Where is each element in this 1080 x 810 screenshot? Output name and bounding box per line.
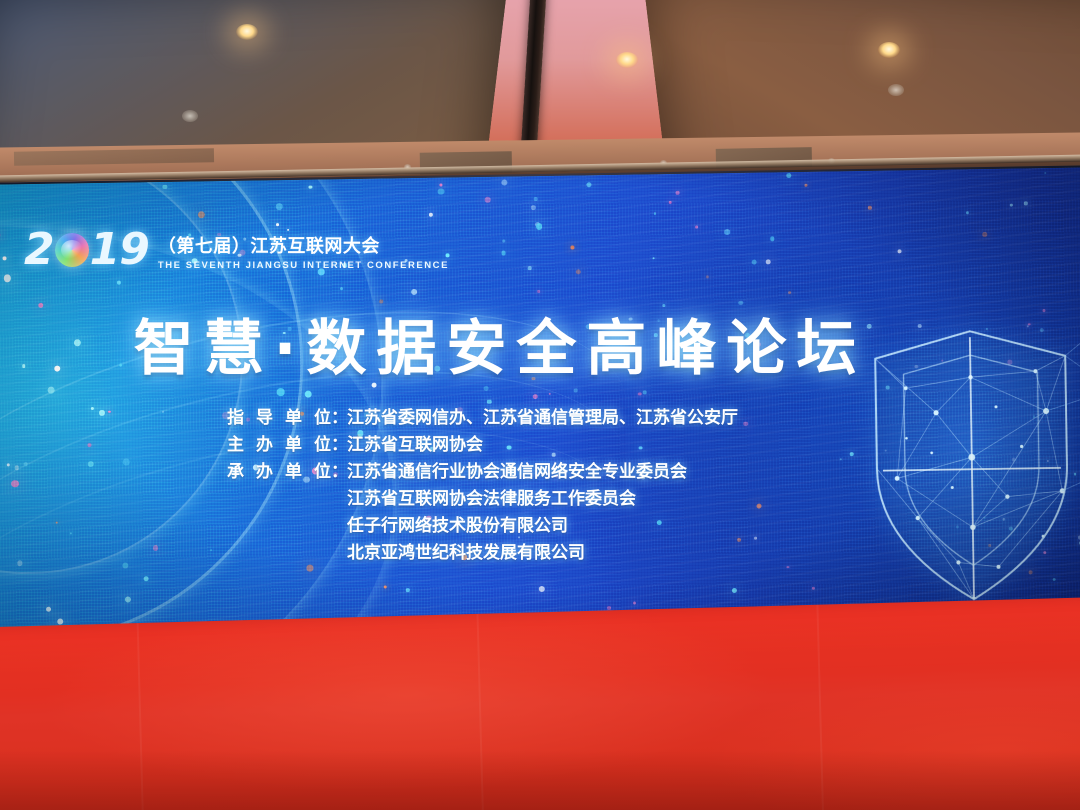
organizer-colon <box>331 512 347 539</box>
organizer-row: 任子行网络技术股份有限公司 <box>0 512 1010 539</box>
ceiling-downlight <box>616 52 638 68</box>
ceiling-downlight <box>236 24 258 40</box>
logo-year-part1: 2 <box>24 228 54 272</box>
bottom-shadow <box>0 750 1080 810</box>
organizer-colon <box>331 539 347 566</box>
forum-main-title: 智慧·数据安全高峰论坛 <box>0 300 1000 387</box>
organizer-label: 主办单位 <box>227 431 331 458</box>
organizer-colon: ： <box>331 431 347 458</box>
conference-logo: 2 19 （第七届）江苏互联网大会 THE SEVENTH JIANGSU IN… <box>24 228 449 272</box>
organizer-label <box>227 485 331 512</box>
logo-chinese-title: （第七届）江苏互联网大会 <box>158 232 449 258</box>
organizer-colon: ： <box>331 404 347 431</box>
logo-year-part2: 19 <box>90 228 149 272</box>
ceiling-spot-dim <box>888 84 904 96</box>
ceiling-downlight <box>878 42 900 58</box>
organizer-value: 江苏省委网信办、江苏省通信管理局、江苏省公安厅 <box>347 404 783 431</box>
organizer-colon: ： <box>331 458 347 485</box>
organizer-label <box>227 539 331 566</box>
ceiling-spot-dim <box>182 110 198 122</box>
organizer-colon <box>331 485 347 512</box>
organizer-row: 北京亚鸿世纪科技发展有限公司 <box>0 539 1010 566</box>
organizer-row: 江苏省互联网协会法律服务工作委员会 <box>0 485 1010 512</box>
organizer-label <box>227 512 331 539</box>
organizer-value: 任子行网络技术股份有限公司 <box>347 512 783 539</box>
organizer-value: 北京亚鸿世纪科技发展有限公司 <box>347 539 783 566</box>
logo-english-title: THE SEVENTH JIANGSU INTERNET CONFERENCE <box>158 260 449 271</box>
organizer-list: 指导单位：江苏省委网信办、江苏省通信管理局、江苏省公安厅主办单位：江苏省互联网协… <box>0 404 1010 566</box>
logo-year: 2 19 <box>24 228 149 272</box>
organizer-label: 承办单位 <box>227 458 331 485</box>
stage-scene: 2 19 （第七届）江苏互联网大会 THE SEVENTH JIANGSU IN… <box>0 0 1080 810</box>
organizer-value: 江苏省互联网协会法律服务工作委员会 <box>347 485 783 512</box>
organizer-label: 指导单位 <box>227 404 331 431</box>
organizer-value: 江苏省通信行业协会通信网络安全专业委员会 <box>347 458 783 485</box>
organizer-row: 主办单位：江苏省互联网协会 <box>0 431 1010 458</box>
organizer-value: 江苏省互联网协会 <box>347 431 783 458</box>
organizer-row: 承办单位：江苏省通信行业协会通信网络安全专业委员会 <box>0 458 1010 485</box>
logo-orb-icon <box>55 233 89 267</box>
organizer-row: 指导单位：江苏省委网信办、江苏省通信管理局、江苏省公安厅 <box>0 404 1010 431</box>
